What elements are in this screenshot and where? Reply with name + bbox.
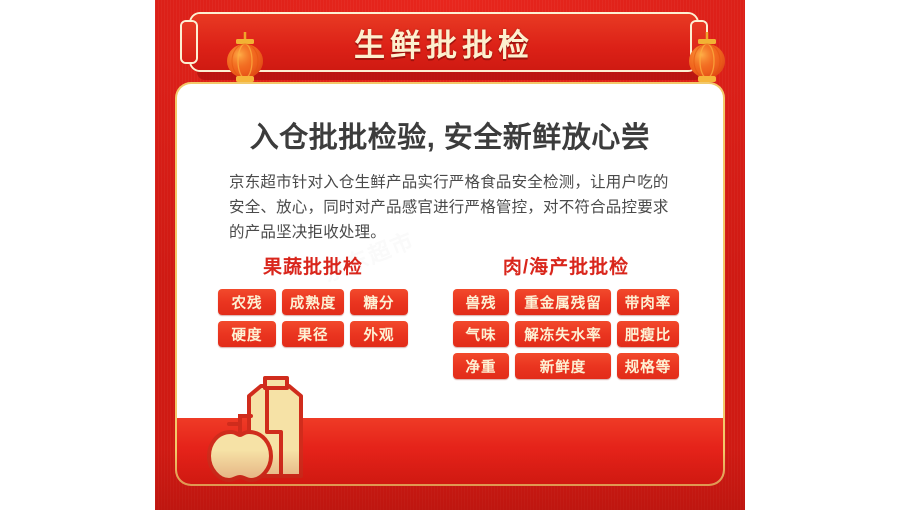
tag-grid-fruit-veg: 农残 成熟度 糖分 硬度 果径 外观 [207,289,419,347]
tag-item[interactable]: 成熟度 [282,289,344,315]
column-meat-seafood: 肉/海产批批检 兽残 重金属残留 带肉率 气味 解冻失水率 肥瘦比 净重 新鲜度… [441,252,691,379]
tag-item[interactable]: 气味 [453,321,509,347]
page-title: 入仓批批检验, 安全新鲜放心尝 [177,114,723,156]
poster-canvas: 生鲜批批检 [0,0,900,510]
column-fruit-veg: 果蔬批批检 农残 成熟度 糖分 硬度 果径 外观 [207,252,419,379]
tag-item[interactable]: 净重 [453,353,509,379]
tag-item[interactable]: 硬度 [218,321,276,347]
tag-item[interactable]: 带肉率 [617,289,679,315]
column-title-fruit-veg: 果蔬批批检 [207,252,419,279]
tag-item[interactable]: 规格等 [617,353,679,379]
tag-item[interactable]: 农残 [218,289,276,315]
tag-item[interactable]: 兽残 [453,289,509,315]
red-poster-panel: 生鲜批批检 [155,0,745,510]
tag-item[interactable]: 解冻失水率 [515,321,611,347]
tag-item[interactable]: 新鲜度 [515,353,611,379]
column-title-meat-seafood: 肉/海产批批检 [441,252,691,279]
apple-and-milk-carton-illustration [189,372,339,484]
tag-item[interactable]: 重金属残留 [515,289,611,315]
tag-item[interactable]: 果径 [282,321,344,347]
tag-grid-meat-seafood: 兽残 重金属残留 带肉率 气味 解冻失水率 肥瘦比 净重 新鲜度 规格等 [441,289,691,379]
tag-item[interactable]: 肥瘦比 [617,321,679,347]
title-banner: 生鲜批批检 [191,14,709,80]
tag-item[interactable]: 糖分 [350,289,408,315]
tag-item[interactable]: 外观 [350,321,408,347]
check-columns: 果蔬批批检 农残 成熟度 糖分 硬度 果径 外观 肉/海产批批检 兽残 重金属残… [207,252,693,379]
description-paragraph: 京东超市针对入仓生鲜产品实行严格食品安全检测，让用户吃的安全、放心，同时对产品感… [229,170,677,245]
content-card: 京东超市 入仓批批检验, 安全新鲜放心尝 京东超市针对入仓生鲜产品实行严格食品安… [177,84,723,484]
